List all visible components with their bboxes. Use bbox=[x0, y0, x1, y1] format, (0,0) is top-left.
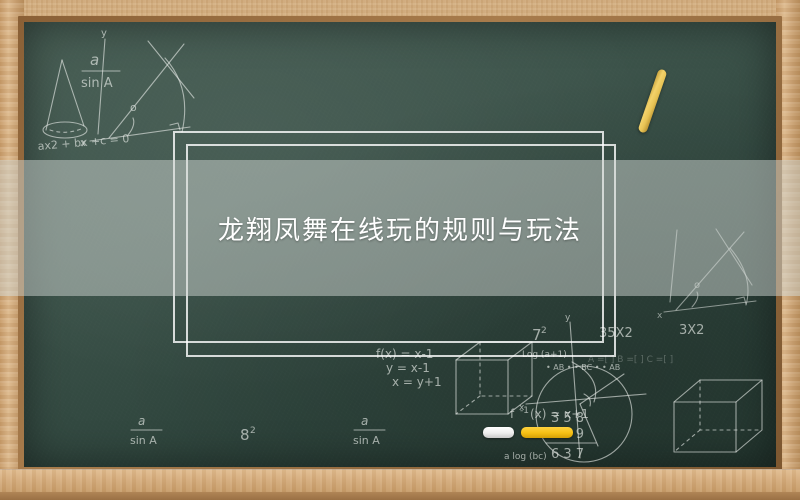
chalkboard-image: a sin A ax2 + bx +c = 0 y x o bbox=[0, 0, 800, 500]
svg-text:f: f bbox=[510, 407, 515, 421]
svg-text:6 3 7: 6 3 7 bbox=[551, 447, 584, 462]
svg-text:x: x bbox=[519, 403, 525, 413]
svg-text:(x) = x+1: (x) = x+1 bbox=[530, 407, 589, 421]
cone-diagram bbox=[43, 60, 87, 138]
chalk-tray-lip bbox=[0, 492, 800, 500]
title-container: 龙翔凤舞在线玩的规则与玩法 bbox=[0, 160, 800, 296]
svg-text:ax2 + bx +c = 0: ax2 + bx +c = 0 bbox=[37, 132, 130, 153]
svg-text:a log (bc): a log (bc) bbox=[504, 452, 547, 462]
svg-text:a: a bbox=[90, 51, 99, 69]
svg-text:sin A: sin A bbox=[81, 76, 113, 91]
svg-text:-1: -1 bbox=[520, 406, 529, 416]
svg-text:2: 2 bbox=[250, 426, 256, 436]
svg-text:• AB • • BC • • AB: • AB • • BC • • AB bbox=[546, 363, 620, 372]
white-chalk-piece bbox=[483, 427, 514, 438]
page-title: 龙翔凤舞在线玩的规则与玩法 bbox=[218, 210, 582, 247]
cube-wireframe-right bbox=[674, 380, 762, 452]
svg-text:3 5 8: 3 5 8 bbox=[551, 411, 584, 426]
svg-text:x = y+1: x = y+1 bbox=[392, 375, 442, 389]
svg-text:8: 8 bbox=[240, 426, 250, 444]
svg-text:o: o bbox=[130, 101, 137, 114]
yellow-chalk-piece bbox=[521, 427, 573, 438]
svg-text:3X2: 3X2 bbox=[679, 323, 704, 338]
svg-text:a: a bbox=[138, 414, 145, 428]
svg-text:sin A: sin A bbox=[130, 434, 157, 447]
svg-text:sin A: sin A bbox=[353, 434, 380, 447]
chalk-tray bbox=[0, 469, 800, 500]
svg-text:y = x-1: y = x-1 bbox=[386, 361, 430, 375]
svg-text:x: x bbox=[657, 311, 663, 321]
svg-text:y: y bbox=[101, 28, 107, 39]
svg-text:a: a bbox=[361, 414, 368, 428]
svg-text:x: x bbox=[80, 138, 86, 149]
